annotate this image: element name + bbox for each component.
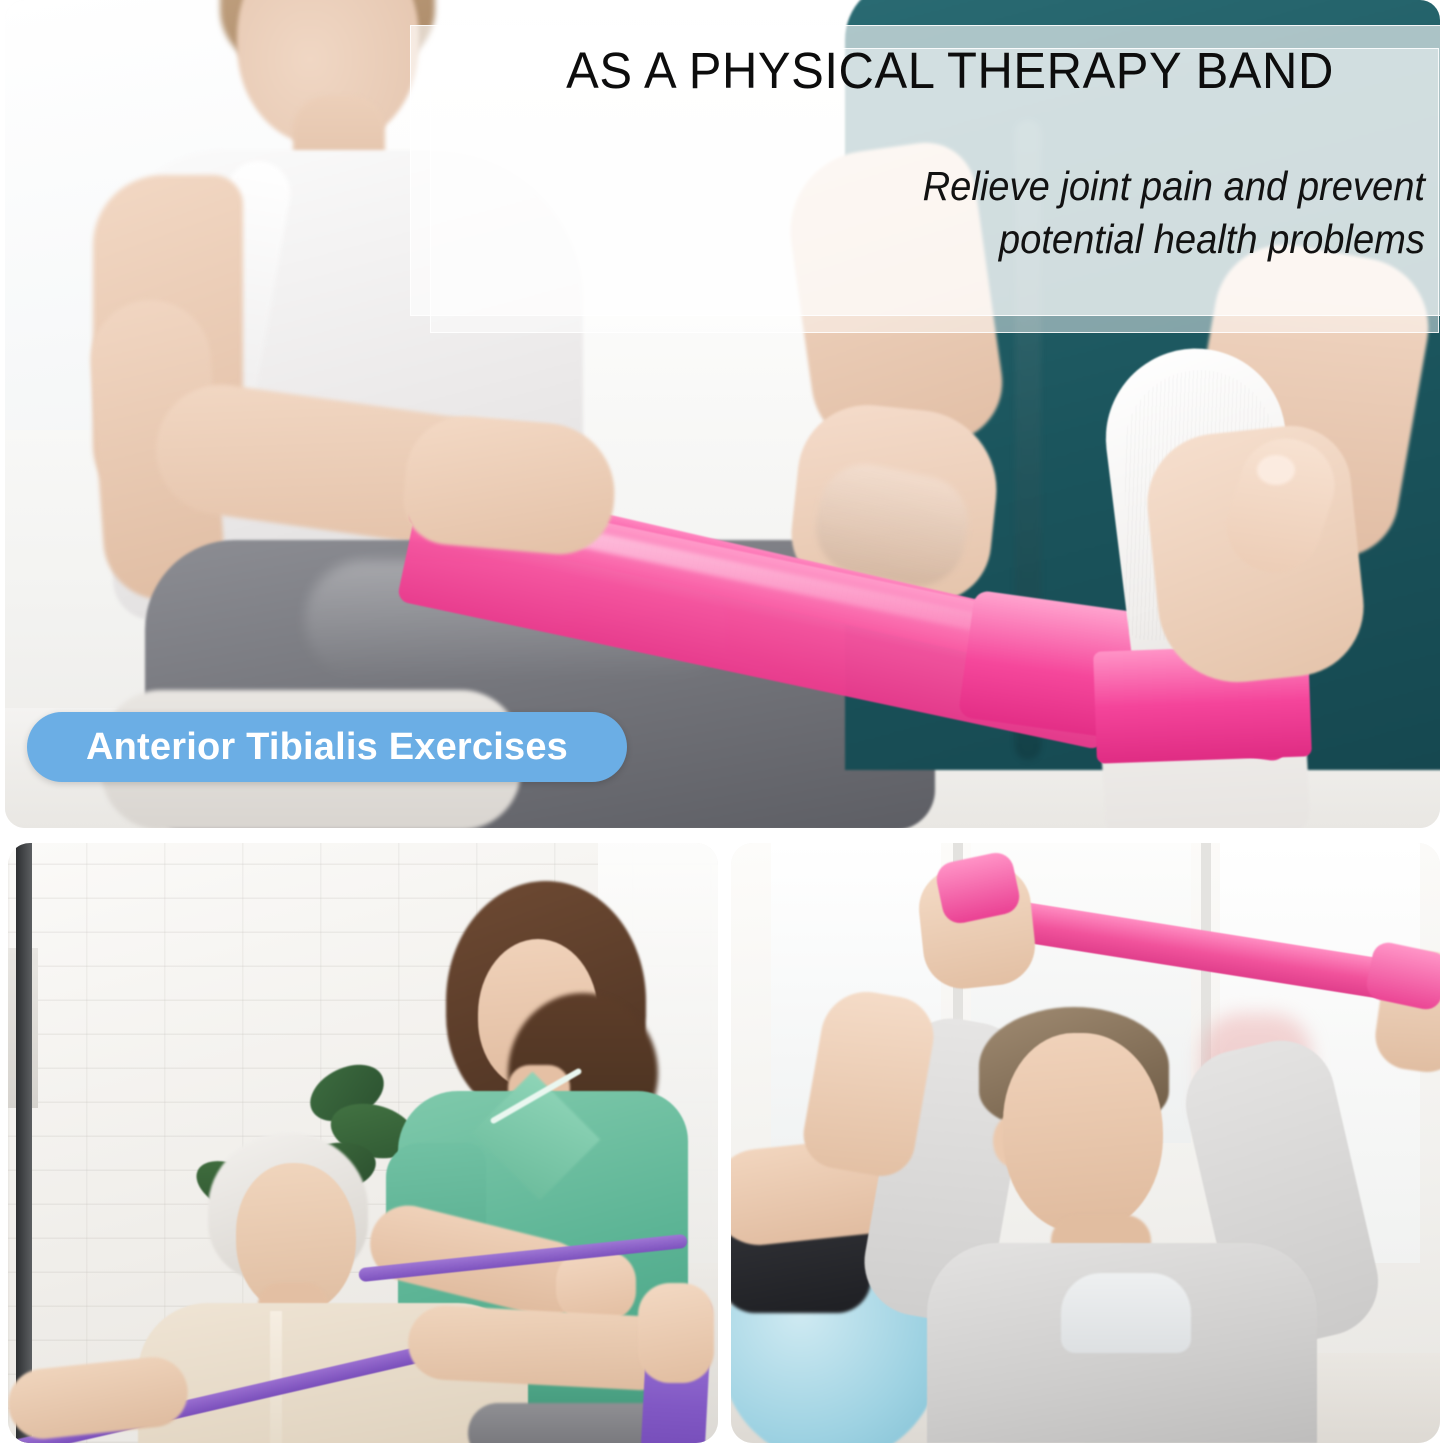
thumbnail — [1257, 455, 1295, 485]
feature-panel-top: AS A PHYSICAL THERAPY BAND Relieve joint… — [5, 0, 1440, 828]
page-subtitle: Relieve joint pain and prevent potential… — [662, 160, 1425, 267]
badge-anterior-tibialis-exercises: Anterior Tibialis Exercises — [27, 712, 627, 782]
product-feature-collage: AS A PHYSICAL THERAPY BAND Relieve joint… — [0, 0, 1445, 1443]
therapist-hand — [556, 1251, 636, 1321]
bottom-right-panel-photo — [731, 843, 1440, 1443]
man-face — [1003, 1033, 1163, 1233]
bottom-left-panel-photo — [8, 843, 718, 1443]
subtitle-line-1: Relieve joint pain and prevent — [662, 160, 1425, 213]
feature-panel-bottom-left: Postoperative Rehabilitation — [8, 843, 718, 1443]
man-undershirt — [1061, 1273, 1191, 1353]
subtitle-line-2: potential health problems — [662, 213, 1425, 266]
shirt-placket — [270, 1311, 282, 1443]
page-title: AS A PHYSICAL THERAPY BAND — [494, 44, 1406, 98]
feature-panel-bottom-right: Relieve Joint Pain — [731, 843, 1440, 1443]
dark-post — [16, 843, 32, 1443]
patient-right-hand — [638, 1283, 714, 1383]
